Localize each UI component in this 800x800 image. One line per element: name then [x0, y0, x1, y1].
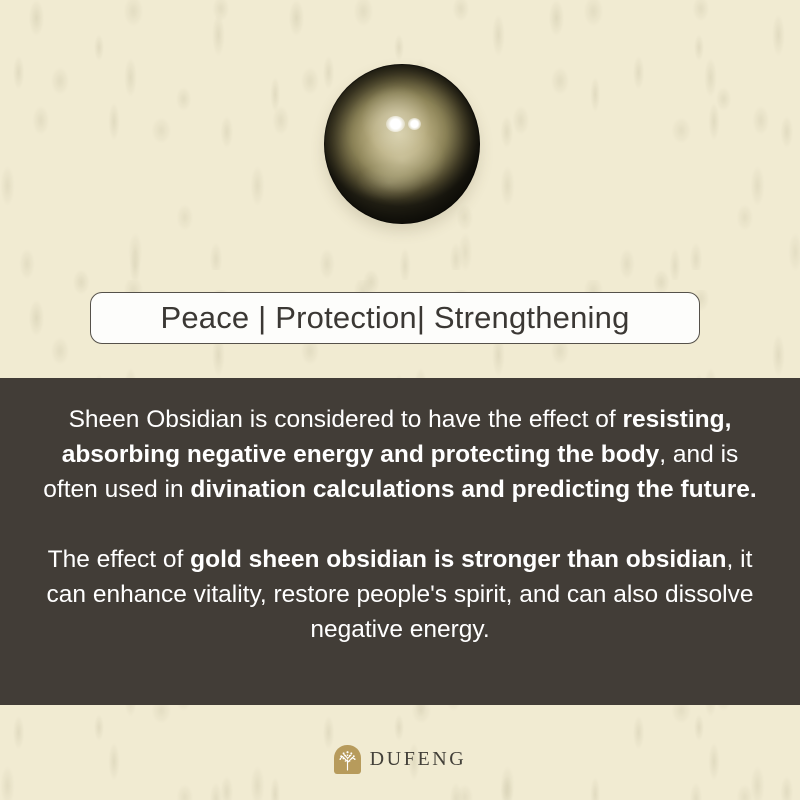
- sphere-highlight-primary: [386, 116, 405, 132]
- sphere-rim: [324, 64, 480, 224]
- gemstone-info-card: Peace | Protection| Strengthening Sheen …: [0, 0, 800, 800]
- keywords-banner: Peace | Protection| Strengthening: [90, 292, 700, 344]
- sphere-highlight-secondary: [408, 118, 421, 130]
- keywords-text: Peace | Protection| Strengthening: [160, 300, 629, 336]
- gemstone-sphere-image: [324, 64, 480, 224]
- arched-tree-icon: [334, 745, 361, 774]
- brand-footer: DUFENG: [0, 735, 800, 783]
- brand-name: DUFENG: [370, 748, 467, 771]
- description-panel: Sheen Obsidian is considered to have the…: [0, 378, 800, 705]
- description-paragraph-2: The effect of gold sheen obsidian is str…: [42, 542, 758, 647]
- description-paragraph-1: Sheen Obsidian is considered to have the…: [42, 402, 758, 507]
- paragraph-spacer: [42, 507, 758, 542]
